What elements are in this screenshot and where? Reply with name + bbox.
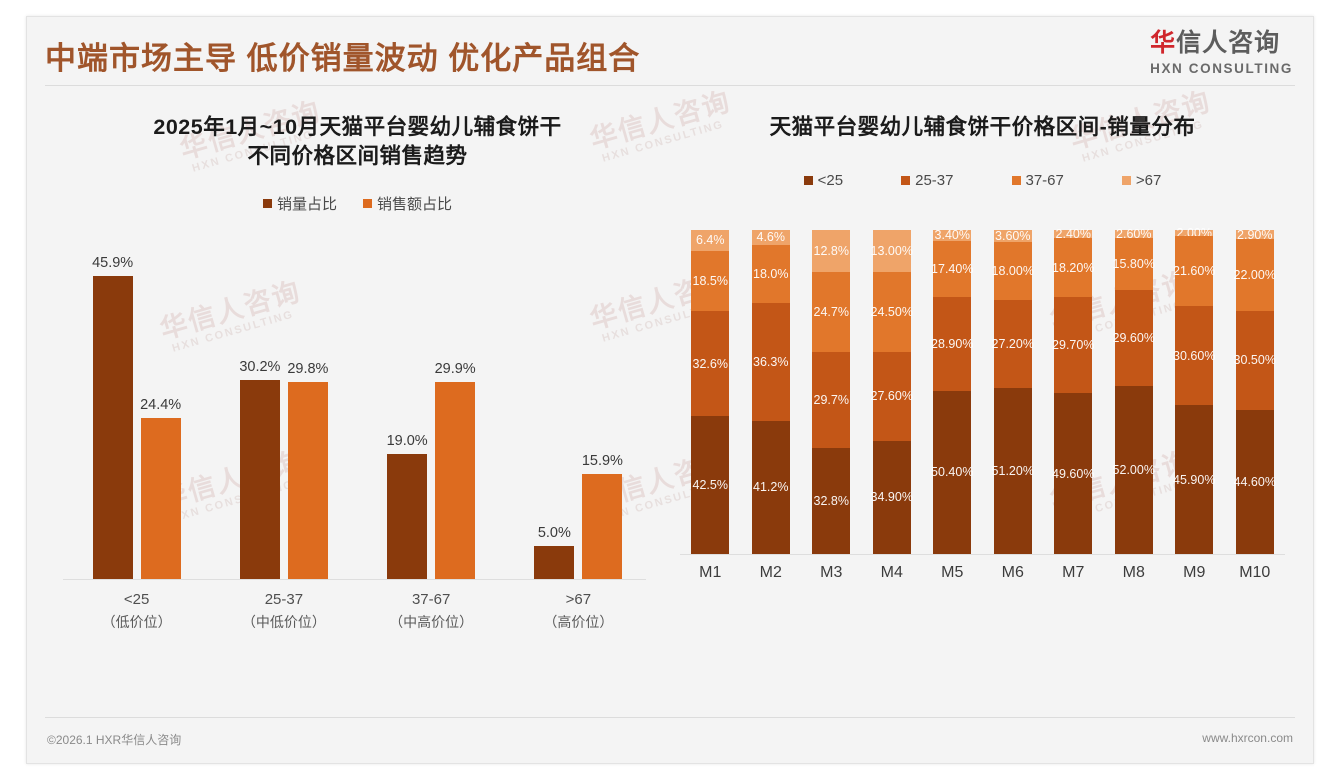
segment-value-label: 28.90% (931, 337, 973, 351)
segment-value-label: 29.70% (1052, 338, 1094, 352)
x-axis-label: >67（高价位） (505, 589, 652, 633)
bar[interactable]: 24.4% (141, 418, 181, 579)
stack: 13.00%24.50%27.60%34.90% (873, 230, 911, 554)
logo-name-en: HXN CONSULTING (1150, 62, 1293, 76)
x-axis-label-main: 37-67 (358, 589, 505, 612)
right-chart-panel: 天猫平台婴幼儿辅食饼干价格区间-销量分布 <2525-3737-67>67 6.… (670, 95, 1313, 717)
x-axis-label: M5 (922, 564, 983, 582)
stacked-column: 3.40%17.40%28.90%50.40% (922, 230, 983, 554)
logo-accent-char: 华 (1150, 29, 1176, 57)
bar-value-label: 30.2% (239, 359, 280, 375)
segment-value-label: 30.60% (1173, 349, 1215, 363)
stack-segment[interactable]: 30.50% (1236, 311, 1274, 410)
copyright-text: ©2026.1 HXR华信人咨询 (47, 731, 181, 748)
x-axis-label: M7 (1043, 564, 1104, 582)
segment-value-label: 4.6% (757, 230, 786, 244)
stack-segment[interactable]: 32.8% (812, 448, 850, 554)
stacked-column: 4.6%18.0%36.3%41.2% (741, 230, 802, 554)
legend-label: 37-67 (1026, 172, 1064, 189)
segment-value-label: 18.20% (1052, 261, 1094, 275)
segment-value-label: 41.2% (753, 480, 788, 494)
stack: 3.60%18.00%27.20%51.20% (994, 230, 1032, 554)
legend-label: <25 (818, 172, 843, 189)
left-chart-legend: 销量占比销售额占比 (63, 193, 652, 214)
stack-segment[interactable]: 30.60% (1175, 306, 1213, 405)
bar[interactable]: 29.9% (435, 382, 475, 579)
segment-value-label: 18.5% (693, 274, 728, 288)
x-axis-label-sub: （中低价位） (210, 612, 357, 633)
bar[interactable]: 30.2% (240, 380, 280, 579)
segment-value-label: 13.00% (871, 244, 913, 258)
segment-value-label: 12.8% (814, 244, 849, 258)
bar-group: 5.0%15.9% (505, 474, 652, 579)
x-axis-label: M10 (1225, 564, 1286, 582)
stack: 2.90%22.00%30.50%44.60% (1236, 230, 1274, 554)
segment-value-label: 27.60% (871, 389, 913, 403)
bar-group: 45.9%24.4% (63, 276, 210, 579)
stacked-column: 2.40%18.20%29.70%49.60% (1043, 230, 1104, 554)
stack-segment[interactable]: 2.60% (1115, 230, 1153, 238)
stack-segment[interactable]: 18.5% (691, 251, 729, 311)
legend-swatch-icon (1122, 176, 1131, 185)
segment-value-label: 50.40% (931, 465, 973, 479)
stack-segment[interactable]: 50.40% (933, 391, 971, 554)
stack-segment[interactable]: 15.80% (1115, 238, 1153, 289)
stack: 2.00%21.60%30.60%45.90% (1175, 230, 1213, 554)
stack-segment[interactable]: 32.6% (691, 311, 729, 417)
legend-item-0[interactable]: <25 (804, 172, 843, 189)
segment-value-label: 34.90% (871, 490, 913, 504)
slide-footer: ©2026.1 HXR华信人咨询 www.hxrcon.com (27, 717, 1313, 763)
stacked-column: 12.8%24.7%29.7%32.8% (801, 230, 862, 554)
stack-segment[interactable]: 29.70% (1054, 297, 1092, 393)
bar[interactable]: 5.0% (534, 546, 574, 579)
x-axis-label: M1 (680, 564, 741, 582)
stack-segment[interactable]: 41.2% (752, 421, 790, 554)
segment-value-label: 51.20% (992, 464, 1034, 478)
bar-value-label: 29.9% (435, 361, 476, 377)
bar-group: 19.0%29.9% (358, 382, 505, 579)
x-axis-label-sub: （中高价位） (358, 612, 505, 633)
segment-value-label: 42.5% (693, 478, 728, 492)
stack-segment[interactable]: 21.60% (1175, 236, 1213, 306)
stack-segment[interactable]: 42.5% (691, 416, 729, 554)
stack: 12.8%24.7%29.7%32.8% (812, 230, 850, 554)
x-axis-label: M9 (1164, 564, 1225, 582)
stack: 6.4%18.5%32.6%42.5% (691, 230, 729, 554)
stack-segment[interactable]: 2.90% (1236, 230, 1274, 239)
left-chart-title: 2025年1月~10月天猫平台婴幼儿辅食饼干 不同价格区间销售趋势 (63, 113, 652, 171)
segment-value-label: 18.00% (992, 264, 1034, 278)
stack-segment[interactable]: 24.50% (873, 272, 911, 351)
x-axis-label: M6 (983, 564, 1044, 582)
legend-item-1[interactable]: 25-37 (901, 172, 953, 189)
stack-segment[interactable]: 24.7% (812, 272, 850, 352)
bar[interactable]: 29.8% (288, 382, 328, 579)
segment-value-label: 32.6% (693, 357, 728, 371)
stack-segment[interactable]: 49.60% (1054, 393, 1092, 554)
stack-segment[interactable]: 29.60% (1115, 290, 1153, 386)
stack-segment[interactable]: 27.20% (994, 300, 1032, 388)
x-axis-label-main: >67 (505, 589, 652, 612)
segment-value-label: 49.60% (1052, 467, 1094, 481)
stack-segment[interactable]: 18.00% (994, 242, 1032, 300)
right-x-axis-labels: M1M2M3M4M5M6M7M8M9M10 (680, 564, 1285, 582)
logo-name-cn: 信人咨询 (1176, 29, 1280, 57)
legend-item-1[interactable]: 销售额占比 (363, 193, 452, 214)
x-axis-label: <25（低价位） (63, 589, 210, 633)
legend-label: 销售额占比 (377, 193, 452, 214)
stack-segment[interactable]: 34.90% (873, 441, 911, 554)
stack-segment[interactable]: 2.40% (1054, 230, 1092, 238)
stack-segment[interactable]: 3.60% (994, 230, 1032, 242)
stacked-column: 2.90%22.00%30.50%44.60% (1225, 230, 1286, 554)
stack-segment[interactable]: 18.20% (1054, 238, 1092, 297)
stack-segment[interactable]: 12.8% (812, 230, 850, 271)
stacked-column: 2.00%21.60%30.60%45.90% (1164, 230, 1225, 554)
segment-value-label: 24.50% (871, 305, 913, 319)
right-chart-title: 天猫平台婴幼儿辅食饼干价格区间-销量分布 (680, 113, 1285, 142)
bar[interactable]: 15.9% (582, 474, 622, 579)
bar-value-label: 24.4% (140, 397, 181, 413)
segment-value-label: 27.20% (992, 337, 1034, 351)
segment-value-label: 6.4% (696, 233, 725, 247)
stacked-column: 2.60%15.80%29.60%52.00% (1104, 230, 1165, 554)
bar-value-label: 45.9% (92, 255, 133, 271)
stack: 2.60%15.80%29.60%52.00% (1115, 230, 1153, 554)
stack: 3.40%17.40%28.90%50.40% (933, 230, 971, 554)
x-axis-line (63, 579, 646, 580)
bar-value-label: 5.0% (538, 525, 571, 541)
stack-segment[interactable]: 3.40% (933, 230, 971, 241)
stack-segment[interactable]: 4.6% (752, 230, 790, 245)
legend-swatch-icon (263, 199, 272, 208)
segment-value-label: 29.60% (1113, 331, 1155, 345)
stack: 4.6%18.0%36.3%41.2% (752, 230, 790, 554)
segment-value-label: 21.60% (1173, 264, 1215, 278)
x-axis-label-sub: （高价位） (505, 612, 652, 633)
segment-value-label: 29.7% (814, 393, 849, 407)
stacked-bar-plot: 6.4%18.5%32.6%42.5%4.6%18.0%36.3%41.2%12… (680, 207, 1285, 555)
legend-label: 25-37 (915, 172, 953, 189)
footer-divider (45, 717, 1295, 718)
x-axis-label: 25-37（中低价位） (210, 589, 357, 633)
bar-group: 30.2%29.8% (210, 380, 357, 579)
stack-segment[interactable]: 36.3% (752, 303, 790, 421)
x-axis-label: M3 (801, 564, 862, 582)
segment-value-label: 22.00% (1234, 268, 1276, 282)
legend-swatch-icon (804, 176, 813, 185)
bar-value-label: 19.0% (387, 433, 428, 449)
bar[interactable]: 19.0% (387, 454, 427, 579)
company-logo: 华信人咨询 HXN CONSULTING (1150, 31, 1293, 76)
legend-item-0[interactable]: 销量占比 (263, 193, 337, 214)
stack-segment[interactable]: 27.60% (873, 352, 911, 441)
legend-item-3[interactable]: >67 (1122, 172, 1161, 189)
x-axis-label-main: 25-37 (210, 589, 357, 612)
legend-label: >67 (1136, 172, 1161, 189)
header-divider (45, 85, 1295, 86)
x-axis-label-main: <25 (63, 589, 210, 612)
stack-segment[interactable]: 17.40% (933, 241, 971, 297)
slide-header: 中端市场主导 低价销量波动 优化产品组合 华信人咨询 HXN CONSULTIN… (27, 17, 1313, 95)
bar[interactable]: 45.9% (93, 276, 133, 579)
stack-segment[interactable]: 51.20% (994, 388, 1032, 554)
x-axis-label: M8 (1104, 564, 1165, 582)
segment-value-label: 15.80% (1113, 257, 1155, 271)
x-axis-label: M2 (741, 564, 802, 582)
stacked-column: 13.00%24.50%27.60%34.90% (862, 230, 923, 554)
segment-value-label: 36.3% (753, 355, 788, 369)
stack-segment[interactable]: 45.90% (1175, 405, 1213, 554)
segment-value-label: 17.40% (931, 262, 973, 276)
bar-value-label: 29.8% (287, 361, 328, 377)
legend-swatch-icon (363, 199, 372, 208)
x-axis-line (680, 554, 1285, 555)
slide-body: 2025年1月~10月天猫平台婴幼儿辅食饼干 不同价格区间销售趋势 销量占比销售… (27, 95, 1313, 717)
segment-value-label: 32.8% (814, 494, 849, 508)
segment-value-label: 45.90% (1173, 473, 1215, 487)
stack-segment[interactable]: 13.00% (873, 230, 911, 272)
left-chart-panel: 2025年1月~10月天猫平台婴幼儿辅食饼干 不同价格区间销售趋势 销量占比销售… (27, 95, 670, 717)
legend-swatch-icon (1012, 176, 1021, 185)
stack: 2.40%18.20%29.70%49.60% (1054, 230, 1092, 554)
stack-segment[interactable]: 52.00% (1115, 386, 1153, 554)
x-axis-label-sub: （低价位） (63, 612, 210, 633)
stack-segment[interactable]: 6.4% (691, 230, 729, 251)
stack-segment[interactable]: 22.00% (1236, 239, 1274, 310)
stack-segment[interactable]: 28.90% (933, 297, 971, 391)
stacked-column: 3.60%18.00%27.20%51.20% (983, 230, 1044, 554)
segment-value-label: 24.7% (814, 305, 849, 319)
slide: 中端市场主导 低价销量波动 优化产品组合 华信人咨询 HXN CONSULTIN… (26, 16, 1314, 764)
right-chart-legend: <2525-3737-67>67 (680, 172, 1285, 189)
x-axis-label: 37-67（中高价位） (358, 589, 505, 633)
grouped-bar-plot: 45.9%24.4%30.2%29.8%19.0%29.9%5.0%15.9% (63, 230, 652, 580)
legend-label: 销量占比 (277, 193, 337, 214)
segment-value-label: 52.00% (1113, 463, 1155, 477)
bar-value-label: 15.9% (582, 453, 623, 469)
stack-segment[interactable]: 29.7% (812, 352, 850, 448)
stacked-column: 6.4%18.5%32.6%42.5% (680, 230, 741, 554)
legend-swatch-icon (901, 176, 910, 185)
segment-value-label: 18.0% (753, 267, 788, 281)
legend-item-2[interactable]: 37-67 (1012, 172, 1064, 189)
stack-segment[interactable]: 44.60% (1236, 410, 1274, 555)
page-title: 中端市场主导 低价销量波动 优化产品组合 (45, 33, 640, 78)
left-x-axis-labels: <25（低价位）25-37（中低价位）37-67（中高价位）>67（高价位） (63, 589, 652, 633)
stack-segment[interactable]: 18.0% (752, 245, 790, 303)
x-axis-label: M4 (862, 564, 923, 582)
segment-value-label: 30.50% (1234, 353, 1276, 367)
segment-value-label: 44.60% (1234, 475, 1276, 489)
website-link[interactable]: www.hxrcon.com (1202, 731, 1293, 745)
